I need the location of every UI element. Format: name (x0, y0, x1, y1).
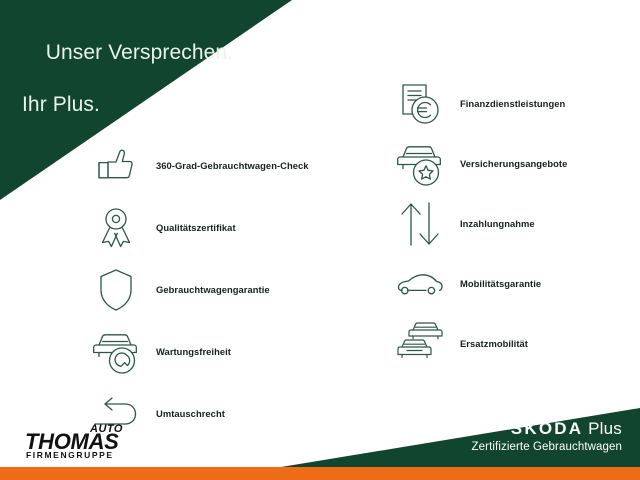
skoda-tagline: Zertifizierte Gebrauchtwagen (472, 440, 622, 455)
feature-label: Ersatzmobilität (460, 338, 528, 350)
shield-icon (88, 265, 144, 315)
auto-thomas-firmengruppe-logo[interactable]: AUTO THOMAS FIRMENGRUPPE (22, 420, 137, 460)
feature-item[interactable]: Ersatzmobilität (392, 318, 640, 370)
feature-item[interactable]: Inzahlungnahme (392, 198, 640, 250)
two-cars-icon (392, 319, 448, 369)
feature-item[interactable]: Qualitätszertifikat (88, 202, 388, 254)
dealer-logo-firmengruppe: FIRMENGRUPPE (26, 450, 114, 460)
feature-label: Inzahlungnahme (460, 218, 535, 230)
feature-item[interactable]: Mobilitätsgarantie (392, 258, 640, 310)
feature-label: Umtauschrecht (156, 408, 225, 420)
feature-item[interactable]: Wartungsfreiheit (88, 326, 388, 378)
feature-list-left: 360-Grad-Gebrauchtwagen-Check Qualitätsz… (88, 140, 388, 450)
skoda-plus-suffix: Plus (583, 419, 622, 438)
feature-label: Wartungsfreiheit (156, 346, 231, 358)
feature-item[interactable]: 360-Grad-Gebrauchtwagen-Check (88, 140, 388, 192)
car-star-icon (392, 139, 448, 189)
feature-item[interactable]: Finanzdienstleistungen (392, 78, 640, 130)
up-down-arrows-icon (392, 199, 448, 249)
dealer-logo-graphic: AUTO THOMAS FIRMENGRUPPE (22, 420, 137, 460)
orange-accent-bar (0, 467, 640, 480)
feature-item[interactable]: Versicherungsangebote (392, 138, 640, 190)
skoda-plus-brand: ŠKODA Plus Zertifizierte Gebrauchtwagen (472, 419, 622, 455)
feature-label: 360-Grad-Gebrauchtwagen-Check (156, 160, 309, 172)
feature-label: Versicherungsangebote (460, 158, 567, 170)
feature-label: Gebrauchtwagengarantie (156, 284, 270, 296)
feature-label: Finanzdienstleistungen (460, 98, 565, 110)
quality-rosette-icon (88, 203, 144, 253)
headline-line-1: Unser Versprechen. (46, 41, 233, 64)
feature-item[interactable]: Gebrauchtwagengarantie (88, 264, 388, 316)
document-euro-icon (392, 79, 448, 129)
promo-banner: Unser Versprechen. Ihr Plus. 360-Grad-Ge… (0, 0, 640, 480)
skoda-wordmark-line: ŠKODA Plus (472, 419, 622, 439)
car-side-icon (392, 259, 448, 309)
skoda-wordmark: ŠKODA (511, 419, 583, 438)
feature-list-right: Finanzdienstleistungen Versicherungsange… (392, 78, 640, 378)
car-wrench-icon (88, 327, 144, 377)
feature-label: Mobilitätsgarantie (460, 278, 541, 290)
headline-line-2: Ihr Plus. (22, 92, 233, 118)
thumbs-up-icon (88, 141, 144, 191)
feature-label: Qualitätszertifikat (156, 222, 236, 234)
